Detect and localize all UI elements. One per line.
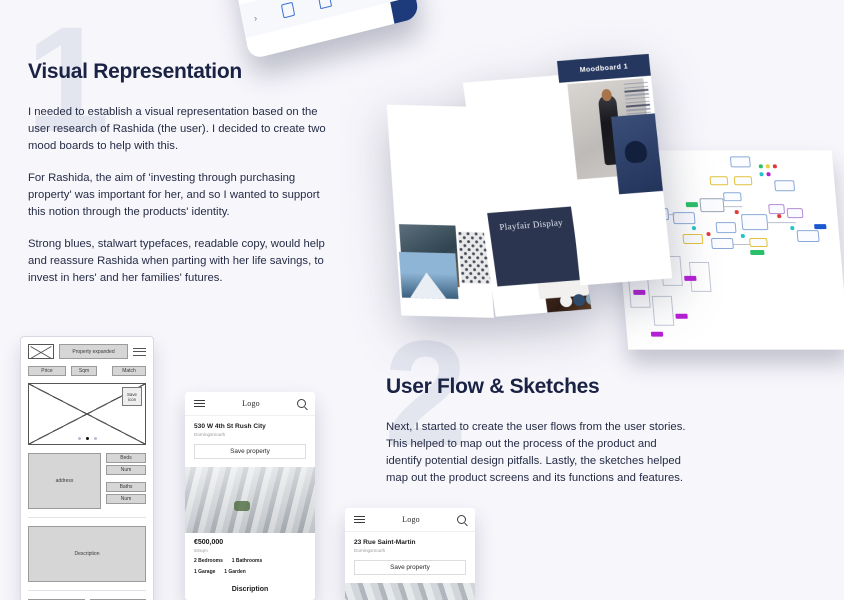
section-1-paragraph-2: For Rashida, the aim of 'investing throu… xyxy=(28,170,328,221)
property-price: €500,000 xyxy=(185,533,315,546)
tilted-phone-tabbar[interactable]: › xyxy=(239,0,415,38)
wireframe-topbar: Property expanded xyxy=(28,344,146,359)
property-street: 23 Rue Saint-Martin xyxy=(354,539,466,546)
flow-dot xyxy=(773,164,777,167)
flow-node xyxy=(741,214,768,230)
phone-a-address-block: 530 W 4th St Rush City Dorningsmouth xyxy=(185,416,315,437)
save-property-button[interactable]: Save property xyxy=(354,560,466,575)
hifi-phone-property-detail-secondary: Logo 23 Rue Saint-Martin Dorningsmouth S… xyxy=(345,508,475,600)
flow-dot xyxy=(777,214,781,217)
section-2-paragraph-1: Next, I started to create the user flows… xyxy=(386,419,686,487)
carousel-dot[interactable] xyxy=(94,437,97,440)
flow-dot xyxy=(706,232,710,235)
wireframe-address-section: address Beds Num Baths Num xyxy=(28,453,146,509)
description-heading: Discription xyxy=(185,575,315,593)
feature-garden: 1 Garden xyxy=(224,569,246,575)
flow-node xyxy=(734,176,753,185)
feature-garage: 1 Garage xyxy=(194,569,215,575)
wireframe-spec-stack: Beds Num Baths Num xyxy=(106,453,146,509)
save-property-button[interactable]: Save property xyxy=(194,444,306,459)
property-city: Dorningsmouth xyxy=(194,432,306,437)
blue-chair-photo xyxy=(611,113,663,194)
phone-a-topbar: Logo xyxy=(185,392,315,416)
flow-node xyxy=(787,208,804,218)
save-icon-button[interactable]: Save icon xyxy=(122,387,142,406)
carousel-dot[interactable] xyxy=(78,437,81,440)
flow-node xyxy=(699,198,724,212)
flow-dot xyxy=(766,172,770,175)
hamburger-menu-icon[interactable] xyxy=(194,400,205,408)
carousel-dots[interactable] xyxy=(29,437,145,440)
filter-sqm-button[interactable]: Sqm xyxy=(71,366,97,376)
flow-node xyxy=(716,222,737,233)
property-photo[interactable] xyxy=(185,467,315,533)
wireframe-hero-image[interactable]: Save icon xyxy=(28,383,146,445)
section-visual-representation: Visual Representation I needed to establ… xyxy=(28,60,328,287)
filter-price-button[interactable]: Price xyxy=(28,366,66,376)
portfolio-case-study-page: Invest Monitor Profit 25% › deco xyxy=(0,0,844,600)
flow-dot xyxy=(692,226,696,229)
hifi-phone-property-detail: Logo 530 W 4th St Rush City Dorningsmout… xyxy=(185,392,315,600)
feature-bedrooms: 2 Bedrooms xyxy=(194,558,223,564)
sticky-note xyxy=(684,276,696,281)
flow-dot xyxy=(759,164,763,167)
sticky-note xyxy=(750,250,764,255)
sticky-note xyxy=(686,202,698,207)
flow-node xyxy=(797,230,820,242)
property-features-line-2: 1 Garage 1 Garden xyxy=(185,564,315,575)
tilted-phone-mockup: Invest Monitor Profit 25% › xyxy=(219,0,419,60)
wireframe-title-field[interactable]: Property expanded xyxy=(59,344,128,359)
flow-dot xyxy=(759,172,763,175)
moodboard-brochure: deco Playfair Display Moodboard 1 xyxy=(377,55,675,320)
divider xyxy=(28,590,146,591)
flow-node xyxy=(774,180,795,191)
deco-logo: deco xyxy=(387,222,399,246)
flow-edge xyxy=(733,244,749,245)
hamburger-menu-icon[interactable] xyxy=(133,344,146,359)
shield-icon[interactable] xyxy=(281,2,295,19)
app-logo: Logo xyxy=(365,515,457,524)
section-user-flow-sketches: User Flow & Sketches Next, I started to … xyxy=(386,375,686,487)
phone-b-topbar: Logo xyxy=(345,508,475,532)
feature-bathrooms: 1 Bathrooms xyxy=(232,558,263,564)
mountain-photo xyxy=(399,252,459,299)
search-icon[interactable] xyxy=(457,515,466,524)
flow-node xyxy=(682,234,703,244)
section-2-heading: User Flow & Sketches xyxy=(386,375,686,399)
flow-edge xyxy=(768,222,796,223)
chevron-right-icon[interactable]: › xyxy=(253,13,258,24)
property-city: Dorningsmouth xyxy=(354,548,466,553)
flow-node xyxy=(730,156,751,167)
flow-dot xyxy=(741,234,745,237)
spec-baths-label: Baths xyxy=(106,482,146,492)
app-logo: Logo xyxy=(205,399,297,408)
property-street: 530 W 4th St Rush City xyxy=(194,423,306,430)
match-button[interactable]: Match xyxy=(112,366,146,376)
section-1-paragraph-3: Strong blues, stalwart typefaces, readab… xyxy=(28,236,328,287)
address-placeholder: address xyxy=(28,453,101,509)
book-icon[interactable] xyxy=(318,0,332,9)
sticky-note xyxy=(675,314,687,319)
flow-node xyxy=(749,238,768,247)
search-icon[interactable] xyxy=(297,399,306,408)
flow-node xyxy=(723,192,742,201)
spec-beds-value: Num xyxy=(106,465,146,475)
property-area: 50sqm xyxy=(185,546,315,553)
flow-node xyxy=(672,212,695,224)
flow-dot xyxy=(766,164,770,167)
description-placeholder: Description xyxy=(28,526,146,582)
flow-dot xyxy=(790,226,794,229)
flow-dot xyxy=(735,210,739,213)
carousel-dot-active[interactable] xyxy=(86,437,89,440)
property-photo[interactable] xyxy=(345,583,475,600)
property-features-line-1: 2 Bedrooms 1 Bathrooms xyxy=(185,553,315,564)
flow-edge xyxy=(669,214,675,215)
wireframe-filter-row: Price Sqm Match xyxy=(28,366,146,376)
section-1-paragraph-1: I needed to establish a visual represent… xyxy=(28,104,328,155)
flow-node xyxy=(709,176,728,185)
hamburger-menu-icon[interactable] xyxy=(354,516,365,524)
divider xyxy=(28,517,146,518)
spec-beds-label: Beds xyxy=(106,453,146,463)
phone-b-address-block: 23 Rue Saint-Martin Dorningsmouth xyxy=(345,532,475,553)
sticky-note xyxy=(651,332,663,337)
sticky-note xyxy=(814,224,826,229)
lofi-wireframe-screen: Property expanded Price Sqm Match Save i… xyxy=(20,336,154,600)
section-1-heading: Visual Representation xyxy=(28,60,328,84)
flow-edge xyxy=(724,206,742,207)
flow-node xyxy=(711,238,734,249)
typeface-caption: Playfair Display xyxy=(487,207,581,287)
spec-baths-value: Num xyxy=(106,494,146,504)
image-placeholder-icon xyxy=(28,344,54,359)
flow-node xyxy=(768,204,785,214)
